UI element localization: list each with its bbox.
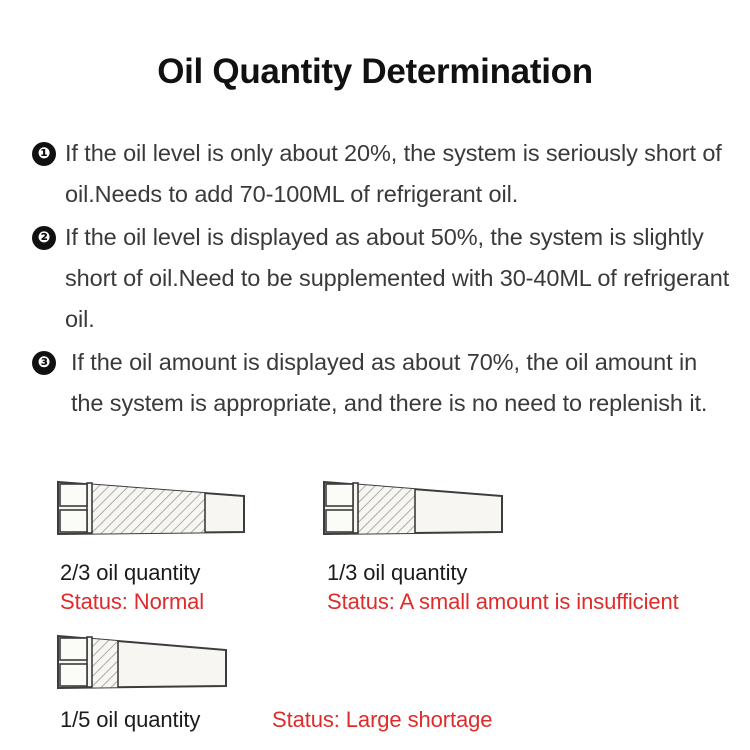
gauge-svg-two-thirds (56, 479, 250, 537)
gauge-diagram-one-fifth (56, 633, 232, 691)
gauge-quantity-label-two-thirds: 2/3 oil quantity (60, 558, 204, 587)
document-page: Oil Quantity Determination ❶ If the oil … (0, 0, 750, 750)
list-item: ❷ If the oil level is displayed as about… (32, 217, 732, 340)
instruction-text-3: If the oil amount is displayed as about … (63, 342, 732, 424)
gauge-diagram-two-thirds (56, 479, 250, 537)
gauge-status-label-one-third: Status: A small amount is insufficient (327, 587, 679, 616)
list-item: ❸ If the oil amount is displayed as abou… (32, 342, 732, 424)
list-item: ❶ If the oil level is only about 20%, th… (32, 133, 732, 215)
list-marker-3: ❸ (32, 351, 56, 375)
list-marker-1: ❶ (32, 142, 56, 166)
gauge-oil-fill (92, 479, 205, 537)
gauge-cap-box-top (326, 484, 353, 506)
instruction-text-2: If the oil level is displayed as about 5… (63, 217, 732, 340)
instruction-text-1: If the oil level is only about 20%, the … (63, 133, 732, 215)
gauge-status-label-two-thirds: Status: Normal (60, 587, 204, 616)
list-marker-2: ❷ (32, 226, 56, 250)
gauge-quantity-label-one-fifth: 1/5 oil quantity (60, 707, 200, 732)
gauge-caption-one-fifth-quantity: 1/5 oil quantity (60, 705, 200, 734)
gauge-cap-box-bottom (326, 510, 353, 532)
gauge-svg-one-fifth (56, 633, 232, 691)
page-title: Oil Quantity Determination (0, 52, 750, 92)
gauge-caption-one-third: 1/3 oil quantity Status: A small amount … (327, 558, 679, 616)
gauge-cap-box-bottom (60, 510, 87, 532)
gauge-quantity-label-one-third: 1/3 oil quantity (327, 558, 679, 587)
gauge-cap-box-top (60, 484, 87, 506)
instruction-list: ❶ If the oil level is only about 20%, th… (32, 133, 732, 426)
gauge-cap-box-bottom (60, 664, 87, 686)
gauge-caption-one-fifth-status: Status: Large shortage (272, 705, 492, 734)
gauge-oil-fill (92, 633, 118, 691)
gauge-diagram-one-third (322, 479, 508, 537)
gauge-status-label-one-fifth: Status: Large shortage (272, 707, 492, 732)
gauge-cap-box-top (60, 638, 87, 660)
gauge-svg-one-third (322, 479, 508, 537)
gauge-caption-two-thirds: 2/3 oil quantity Status: Normal (60, 558, 204, 616)
